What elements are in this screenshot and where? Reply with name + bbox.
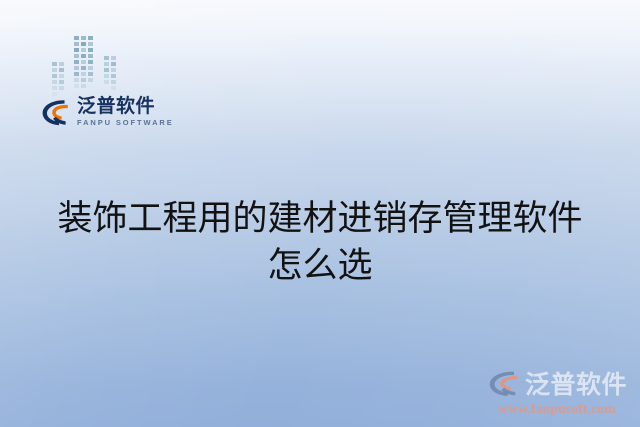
page-title: 装饰工程用的建材进销存管理软件 怎么选 bbox=[0, 196, 640, 290]
watermark: 泛普软件 www.fanpusoft.com bbox=[482, 369, 632, 417]
pixel-buildings-icon bbox=[48, 26, 134, 98]
fanpu-swoosh-watermark-icon bbox=[487, 369, 521, 399]
brand-logo: 泛普软件 FANPU SOFTWARE bbox=[40, 94, 174, 130]
watermark-row: 泛普软件 bbox=[482, 369, 632, 399]
page-title-line-2: 怎么选 bbox=[24, 243, 616, 290]
fanpu-swoosh-logo-icon bbox=[40, 97, 71, 128]
page-title-line-1: 装饰工程用的建材进销存管理软件 bbox=[24, 196, 616, 243]
promo-banner: 泛普软件 FANPU SOFTWARE 装饰工程用的建材进销存管理软件 怎么选 … bbox=[0, 0, 640, 427]
watermark-brand-name: 泛普软件 bbox=[525, 372, 627, 397]
brand-wordmark: 泛普软件 FANPU SOFTWARE bbox=[77, 97, 174, 127]
watermark-url: www.fanpusoft.com bbox=[482, 401, 632, 417]
brand-name-cn: 泛普软件 bbox=[77, 97, 174, 116]
brand-name-en: FANPU SOFTWARE bbox=[77, 119, 174, 127]
